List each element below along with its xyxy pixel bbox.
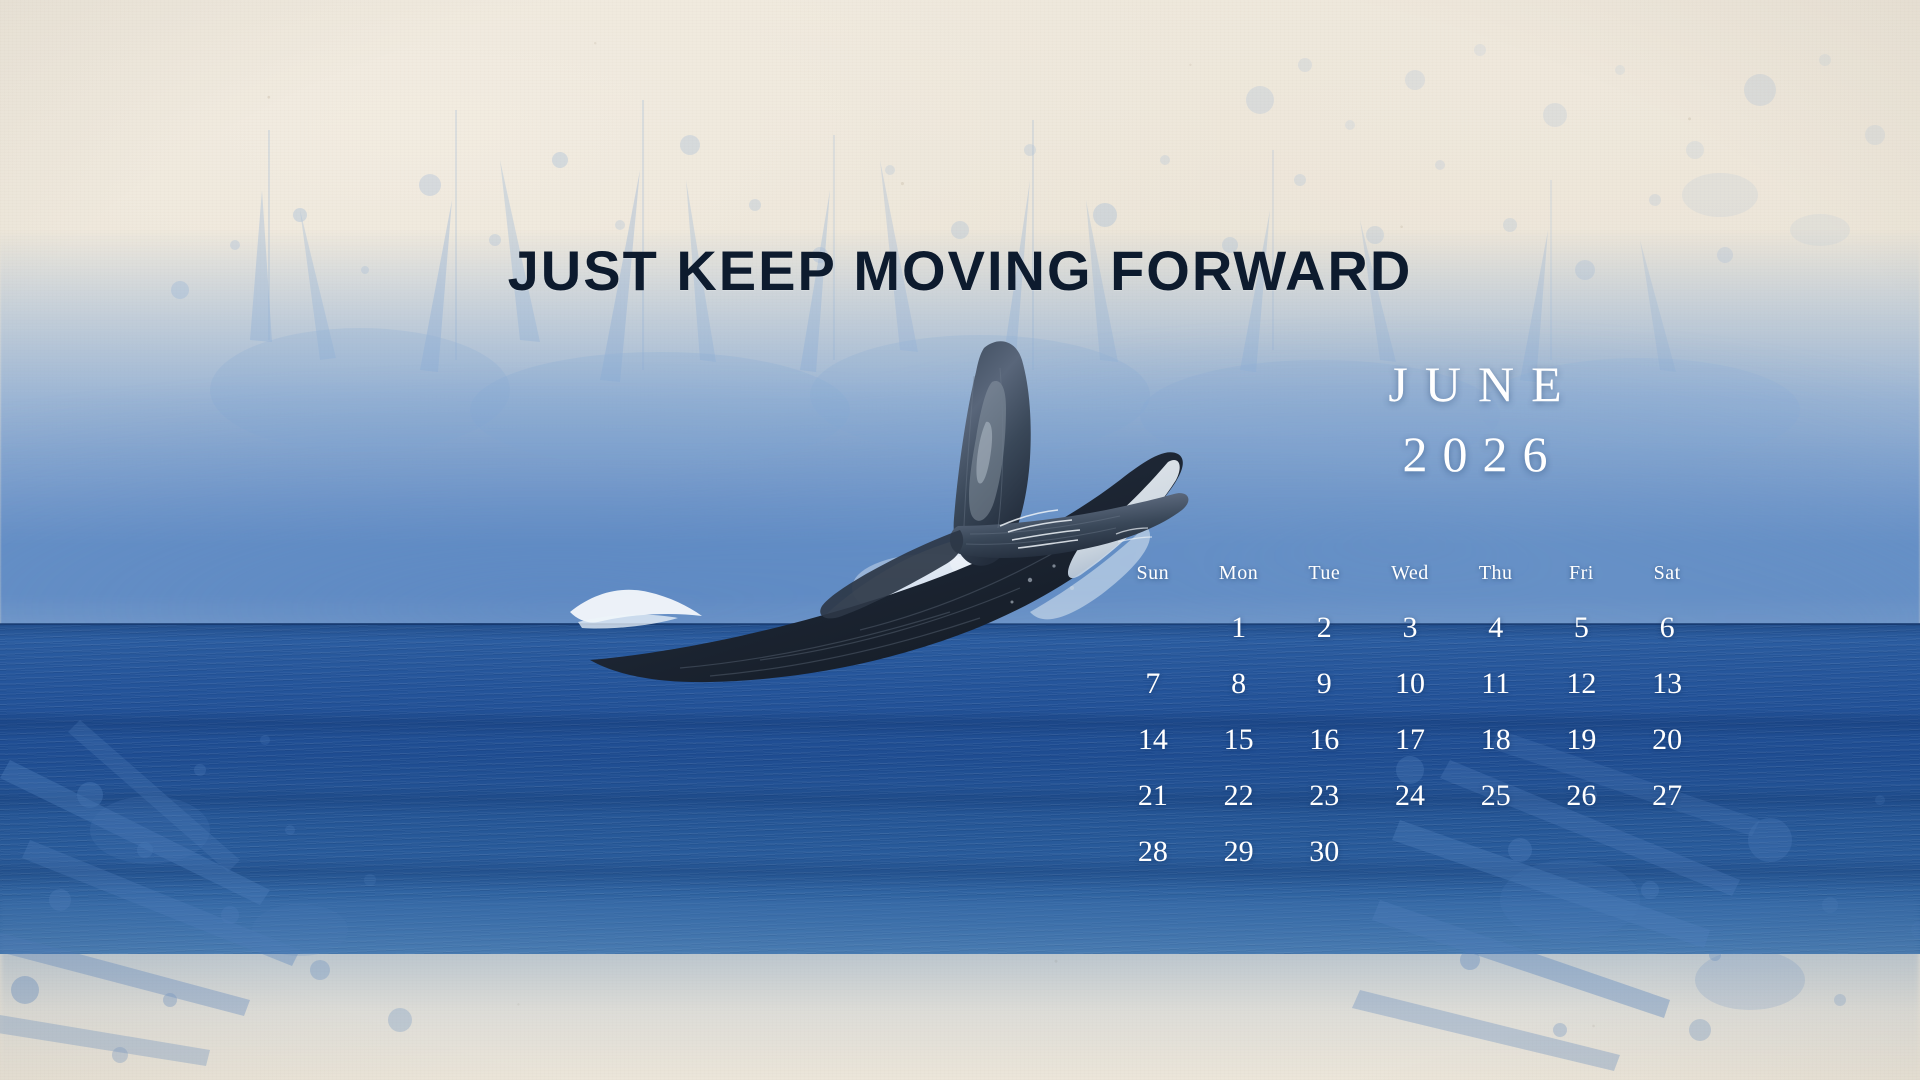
month-label: JUNE [1255,355,1695,414]
calendar-day-6[interactable]: 6 [1624,600,1710,656]
calendar-day-20[interactable]: 20 [1624,712,1710,768]
calendar-weekday-thu: Thu [1453,560,1539,600]
calendar-day-19[interactable]: 19 [1539,712,1625,768]
calendar-day-4[interactable]: 4 [1453,600,1539,656]
calendar-widget: SunMonTueWedThuFriSat 123456789101112131… [1110,560,1710,880]
calendar-day-8[interactable]: 8 [1196,656,1282,712]
calendar-weekday-sun: Sun [1110,560,1196,600]
calendar-day-11[interactable]: 11 [1453,656,1539,712]
calendar-day-28[interactable]: 28 [1110,824,1196,880]
calendar-day-1[interactable]: 1 [1196,600,1282,656]
calendar-day-23[interactable]: 23 [1281,768,1367,824]
wallpaper-canvas: JUST KEEP MOVING FORWARD JUNE 2026 SunMo… [0,0,1920,1080]
calendar-day-16[interactable]: 16 [1281,712,1367,768]
calendar-day-5[interactable]: 5 [1539,600,1625,656]
calendar-day-empty [1367,824,1453,880]
calendar-day-15[interactable]: 15 [1196,712,1282,768]
calendar-day-2[interactable]: 2 [1281,600,1367,656]
calendar-day-empty [1624,824,1710,880]
ocean-bottom-fade [0,900,1920,1080]
calendar-day-empty [1453,824,1539,880]
month-year-block: JUNE 2026 [1255,355,1695,485]
page-title: JUST KEEP MOVING FORWARD [0,238,1920,303]
calendar-day-9[interactable]: 9 [1281,656,1367,712]
calendar-day-10[interactable]: 10 [1367,656,1453,712]
calendar-day-24[interactable]: 24 [1367,768,1453,824]
calendar-weekday-tue: Tue [1281,560,1367,600]
calendar-day-7[interactable]: 7 [1110,656,1196,712]
calendar-day-29[interactable]: 29 [1196,824,1282,880]
calendar-day-18[interactable]: 18 [1453,712,1539,768]
calendar-day-17[interactable]: 17 [1367,712,1453,768]
calendar-day-25[interactable]: 25 [1453,768,1539,824]
calendar-day-26[interactable]: 26 [1539,768,1625,824]
calendar-weekday-sat: Sat [1624,560,1710,600]
year-label: 2026 [1255,424,1695,485]
whale-foam-crest [570,590,702,629]
calendar-weekday-mon: Mon [1196,560,1282,600]
calendar-day-14[interactable]: 14 [1110,712,1196,768]
calendar-weekday-header: SunMonTueWedThuFriSat [1110,560,1710,600]
calendar-weekday-fri: Fri [1539,560,1625,600]
calendar-days-grid: 1234567891011121314151617181920212223242… [1110,600,1710,880]
calendar-weekday-wed: Wed [1367,560,1453,600]
calendar-day-empty [1110,600,1196,656]
calendar-day-12[interactable]: 12 [1539,656,1625,712]
calendar-day-30[interactable]: 30 [1281,824,1367,880]
calendar-day-3[interactable]: 3 [1367,600,1453,656]
calendar-day-22[interactable]: 22 [1196,768,1282,824]
calendar-day-27[interactable]: 27 [1624,768,1710,824]
calendar-day-empty [1539,824,1625,880]
calendar-day-21[interactable]: 21 [1110,768,1196,824]
calendar-day-13[interactable]: 13 [1624,656,1710,712]
